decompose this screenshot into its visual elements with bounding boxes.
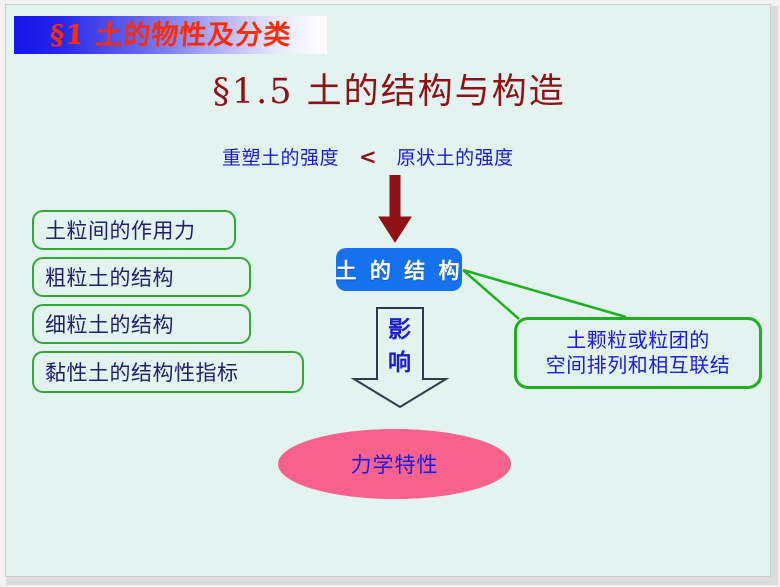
topic-box-clay-structural-index[interactable]: 黏性土的结构性指标 (32, 351, 304, 393)
topic-box-inter-particle-forces[interactable]: 土粒间的作用力 (32, 210, 236, 250)
topic-box-fine-grained-structure[interactable]: 细粒土的结构 (32, 304, 251, 344)
undisturbed-soil-strength-label: 原状土的强度 (397, 143, 514, 170)
mechanical-properties-node[interactable]: 力学特性 (278, 429, 511, 499)
page-title: §1.5 土的结构与构造 (6, 63, 771, 114)
definition-line-2: 空间排列和相互联结 (546, 353, 731, 378)
strength-comparison: 重塑土的强度 < 原状土的强度 (222, 143, 514, 170)
slide-canvas: §1 土的物性及分类 §1.5 土的结构与构造 重塑土的强度 < 原状土的强度 … (5, 4, 771, 577)
definition-line-1: 土颗粒或粒团的 (566, 328, 710, 353)
influence-char-2: 响 (350, 346, 450, 379)
topic-box-coarse-grained-structure[interactable]: 粗粒土的结构 (32, 257, 251, 297)
soil-structure-node-label: 土 的 结 构 (336, 255, 463, 285)
red-down-arrow-icon (378, 175, 412, 243)
topic-label: 黏性土的结构性指标 (45, 357, 239, 387)
influence-char-1: 影 (350, 313, 450, 346)
influence-arrow-text: 影 响 (350, 313, 450, 380)
slide-root: §1 土的物性及分类 §1.5 土的结构与构造 重塑土的强度 < 原状土的强度 … (0, 0, 780, 587)
section-banner-label: §1 土的物性及分类 (49, 22, 292, 49)
soil-structure-node[interactable]: 土 的 结 构 (336, 248, 462, 291)
less-than-operator: < (355, 145, 381, 169)
topic-label: 土粒间的作用力 (45, 215, 196, 245)
structure-definition-box: 土颗粒或粒团的 空间排列和相互联结 (514, 317, 762, 389)
section-banner: §1 土的物性及分类 (14, 16, 327, 54)
topic-label: 细粒土的结构 (45, 309, 174, 339)
topic-label: 粗粒土的结构 (45, 262, 174, 292)
mechanical-properties-label: 力学特性 (351, 449, 439, 479)
remolded-soil-strength-label: 重塑土的强度 (222, 143, 339, 170)
